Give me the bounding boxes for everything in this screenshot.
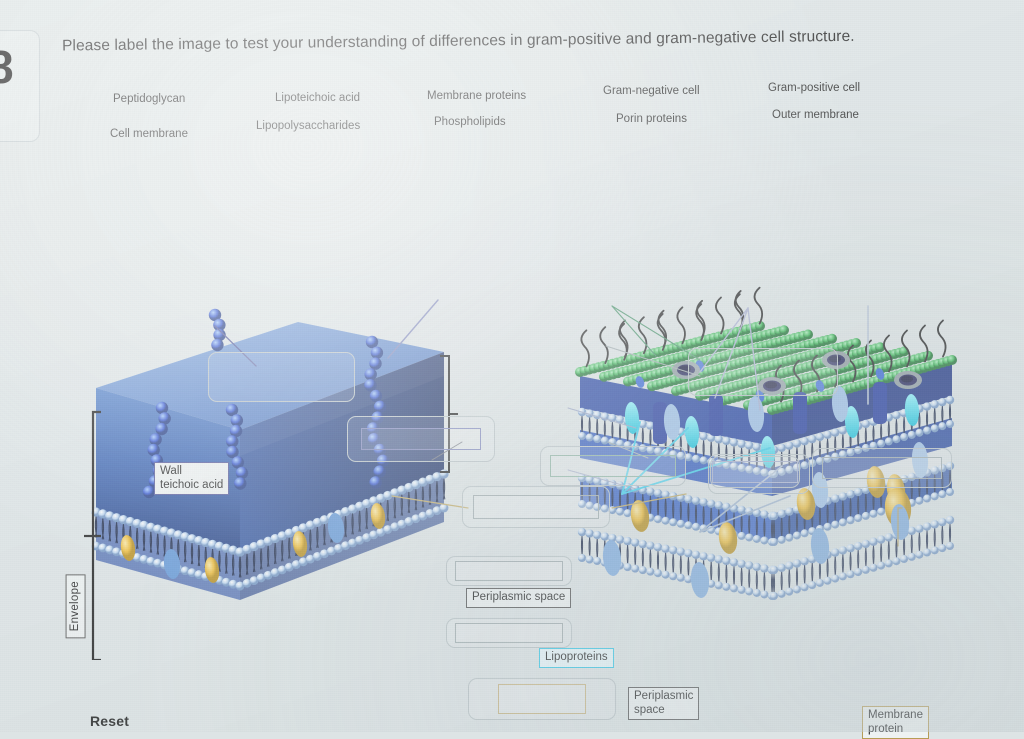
word-bank-item-cell-membrane[interactable]: Cell membrane xyxy=(110,128,188,140)
word-bank-item-outer-membrane[interactable]: Outer membrane xyxy=(772,109,859,121)
word-bank-item-membrane-proteins[interactable]: Membrane proteins xyxy=(427,90,526,102)
slot-membrane-proteins-inner[interactable] xyxy=(455,561,563,581)
word-bank-item-lipoteichoic-acid[interactable]: Lipoteichoic acid xyxy=(275,92,360,104)
label-periplasmic-space-2[interactable]: Periplasmic space xyxy=(628,687,699,720)
label-envelope[interactable]: Envelope xyxy=(66,574,86,638)
slot-phospholipids[interactable] xyxy=(446,618,572,648)
slot-porin-inner-inner[interactable] xyxy=(712,461,798,483)
slot-lps-inner[interactable] xyxy=(550,455,676,477)
page-title: Please label the image to test your unde… xyxy=(62,27,962,56)
slot-membrane-proteins[interactable] xyxy=(446,556,572,586)
word-bank-item-peptidoglycan[interactable]: Peptidoglycan xyxy=(113,93,185,105)
slot-cell-wall-inner[interactable] xyxy=(473,495,599,519)
slot-lipoteichoic-acid-inner[interactable] xyxy=(498,684,586,714)
slot-peptidoglycan-inner[interactable] xyxy=(361,428,481,450)
left-edge-glyph: 8 xyxy=(0,44,12,90)
slot-gram-negative-title[interactable] xyxy=(688,348,838,396)
slot-gram-positive-title[interactable] xyxy=(208,352,355,402)
label-periplasmic-space-1[interactable]: Periplasmic space xyxy=(466,588,571,608)
label-wall-teichoic-acid[interactable]: Wall teichoic acid xyxy=(154,462,229,495)
word-bank-item-phospholipids[interactable]: Phospholipids xyxy=(434,116,506,128)
slot-porin-inner[interactable] xyxy=(710,456,800,488)
slot-cell-wall[interactable] xyxy=(462,486,610,528)
slot-outer-membrane[interactable] xyxy=(812,448,952,488)
slot-lps[interactable] xyxy=(540,446,686,486)
gram-negative-cell xyxy=(575,288,957,600)
slot-lipoteichoic-acid[interactable] xyxy=(468,678,616,720)
slot-phospholipids-inner[interactable] xyxy=(455,623,563,643)
slot-peptidoglycan[interactable] xyxy=(347,416,495,462)
word-bank-item-gram-positive-cell[interactable]: Gram-positive cell xyxy=(768,82,860,94)
word-bank-item-porin-proteins[interactable]: Porin proteins xyxy=(616,113,687,125)
label-membrane-protein[interactable]: Membrane protein xyxy=(862,706,929,739)
word-bank-item-gram-negative-cell[interactable]: Gram-negative cell xyxy=(603,85,700,97)
reset-button[interactable]: Reset xyxy=(90,713,129,729)
slot-outer-membrane-inner[interactable] xyxy=(822,457,942,479)
label-lipoproteins[interactable]: Lipoproteins xyxy=(539,648,614,668)
word-bank-item-lipopolysaccharides[interactable]: Lipopolysaccharides xyxy=(256,120,360,132)
